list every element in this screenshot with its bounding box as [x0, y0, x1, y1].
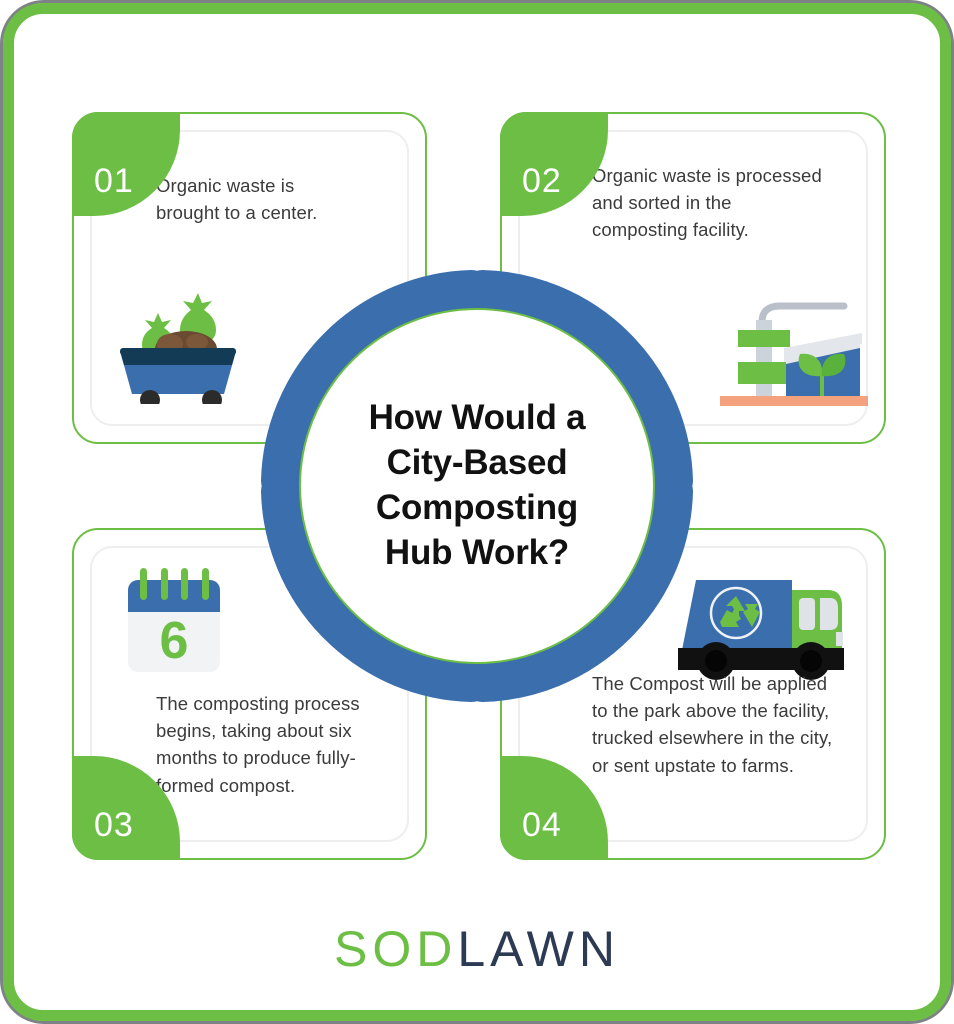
- center-circle: How Would a City-Based Composting Hub Wo…: [299, 308, 655, 664]
- center-title: How Would a City-Based Composting Hub Wo…: [351, 396, 604, 575]
- waste-cart-icon: [98, 284, 248, 404]
- brand-logo-sod: SOD: [334, 921, 457, 977]
- step-badge-04-label: 04: [522, 808, 562, 842]
- calendar-day-number: 6: [160, 612, 189, 670]
- brand-logo-lawn: LAWN: [457, 921, 620, 977]
- calendar-six-months-icon: 6: [114, 562, 234, 682]
- step-card-02-text: Organic waste is processed and sorted in…: [592, 162, 824, 244]
- center-title-line-3: Composting: [369, 486, 586, 531]
- step-badge-03-label: 03: [94, 808, 134, 842]
- center-title-line-2: City-Based: [369, 441, 586, 486]
- step-card-01-text: Organic waste is brought to a center.: [156, 172, 356, 226]
- brand-logo: SODLAWN: [0, 920, 954, 978]
- infographic-poster: Organic waste is brought to a center.: [0, 0, 954, 1024]
- step-badge-02-label: 02: [522, 164, 562, 198]
- center-title-line-1: How Would a: [369, 396, 586, 441]
- center-title-line-4: Hub Work?: [369, 531, 586, 576]
- step-badge-01-label: 01: [94, 164, 134, 198]
- center-ring: How Would a City-Based Composting Hub Wo…: [255, 264, 699, 708]
- composting-facility-icon: [704, 292, 874, 422]
